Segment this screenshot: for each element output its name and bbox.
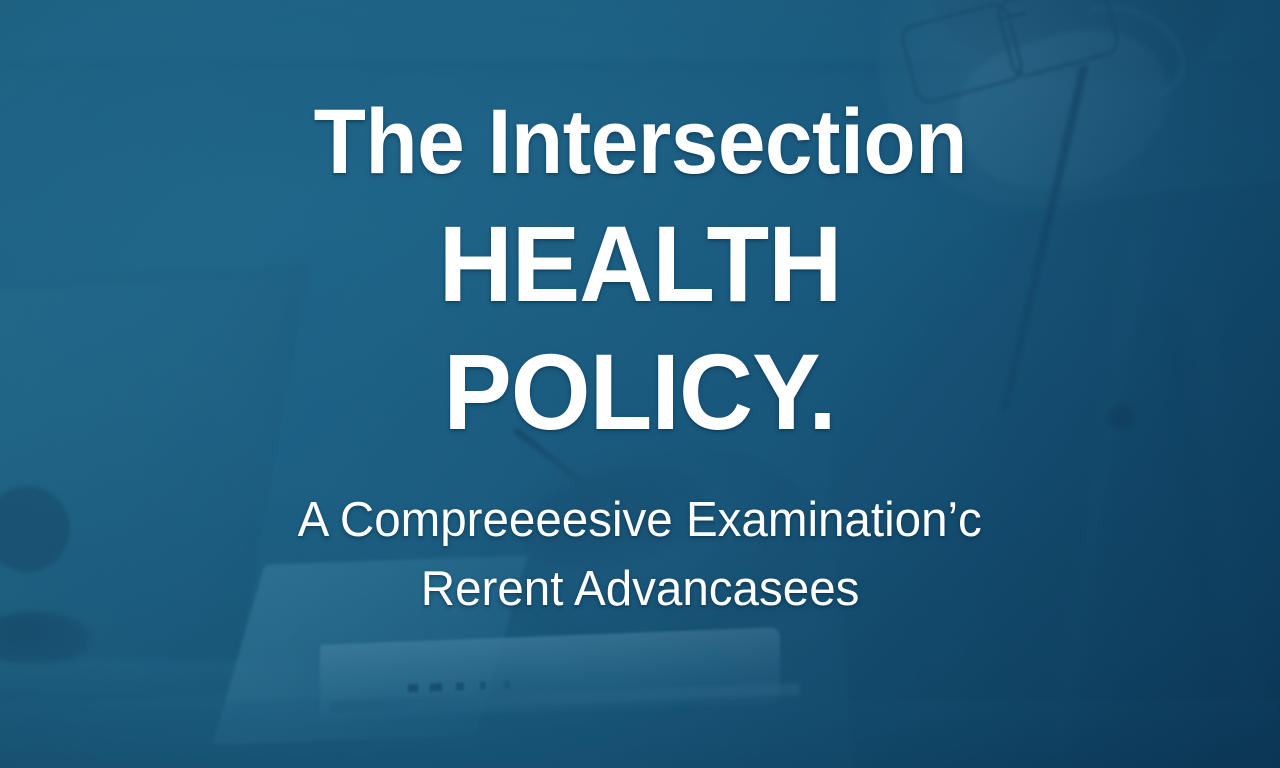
subtitle-line-2: Rerent Advancasees — [421, 565, 860, 614]
title-line-1: The Intersection — [313, 96, 966, 188]
title-line-3: POLICY. — [444, 338, 836, 446]
title-line-2: HEALTH — [439, 210, 842, 318]
subtitle-line-1: A Compreeeesive Examination’c — [298, 496, 982, 545]
headline-block: The Intersection HEALTH POLICY. A Compre… — [0, 0, 1280, 768]
poster-canvas: The Intersection HEALTH POLICY. A Compre… — [0, 0, 1280, 768]
